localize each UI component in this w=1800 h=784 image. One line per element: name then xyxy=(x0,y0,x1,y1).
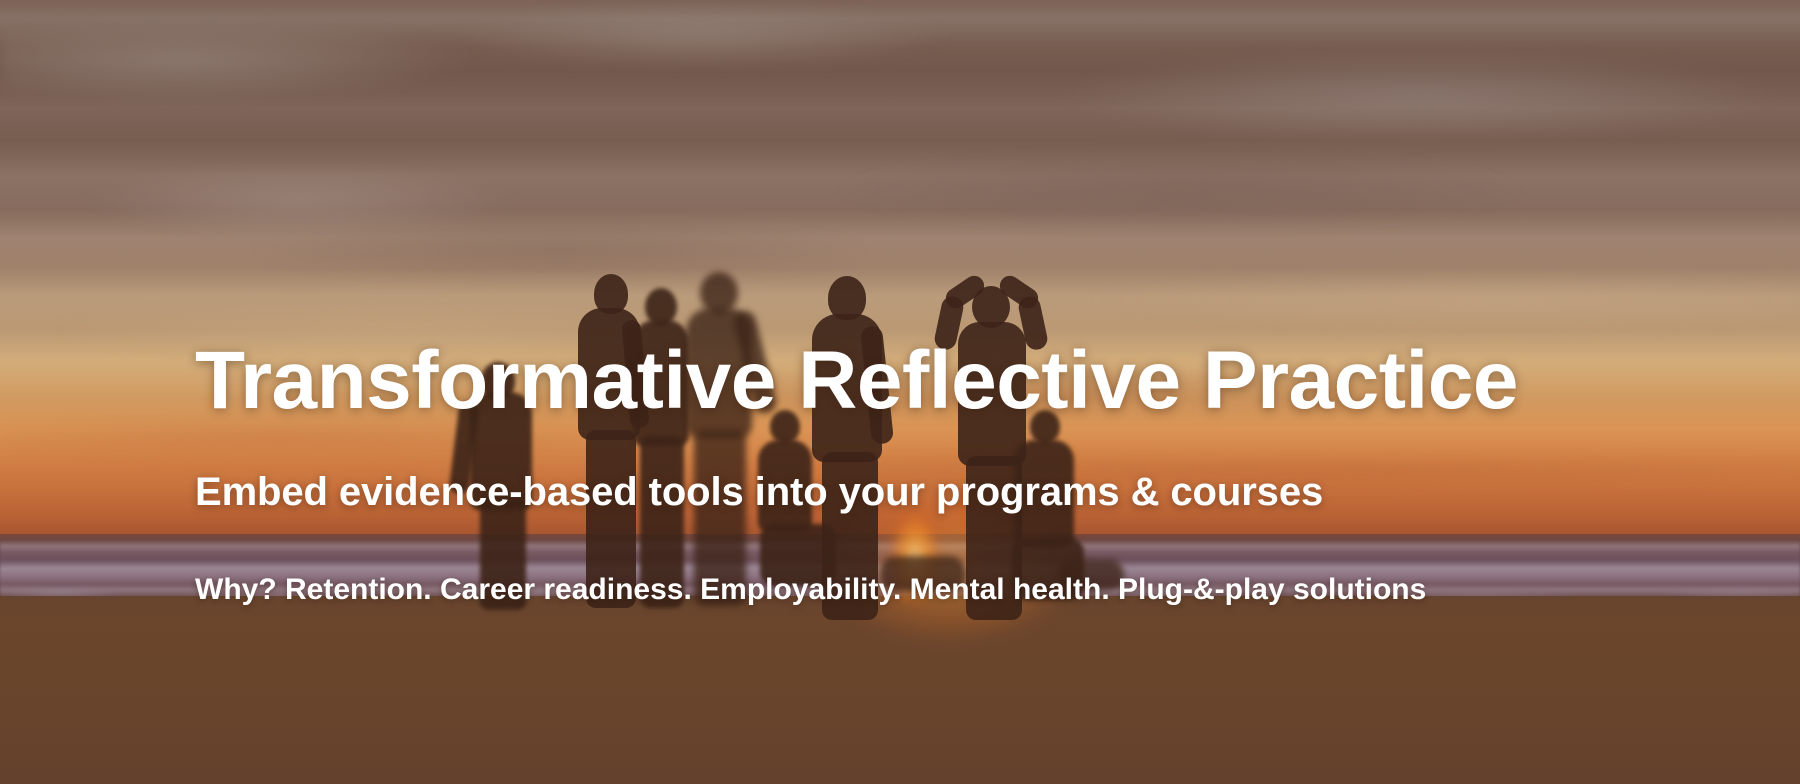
hero-banner: Transformative Reflective Practice Embed… xyxy=(0,0,1800,784)
hero-kicker-line: Why? Retention. Career readiness. Employ… xyxy=(195,575,1645,605)
hero-title: Transformative Reflective Practice xyxy=(195,340,1645,422)
hero-copy-block: Transformative Reflective Practice Embed… xyxy=(195,340,1645,605)
hero-subtitle: Embed evidence-based tools into your pro… xyxy=(195,472,1645,512)
